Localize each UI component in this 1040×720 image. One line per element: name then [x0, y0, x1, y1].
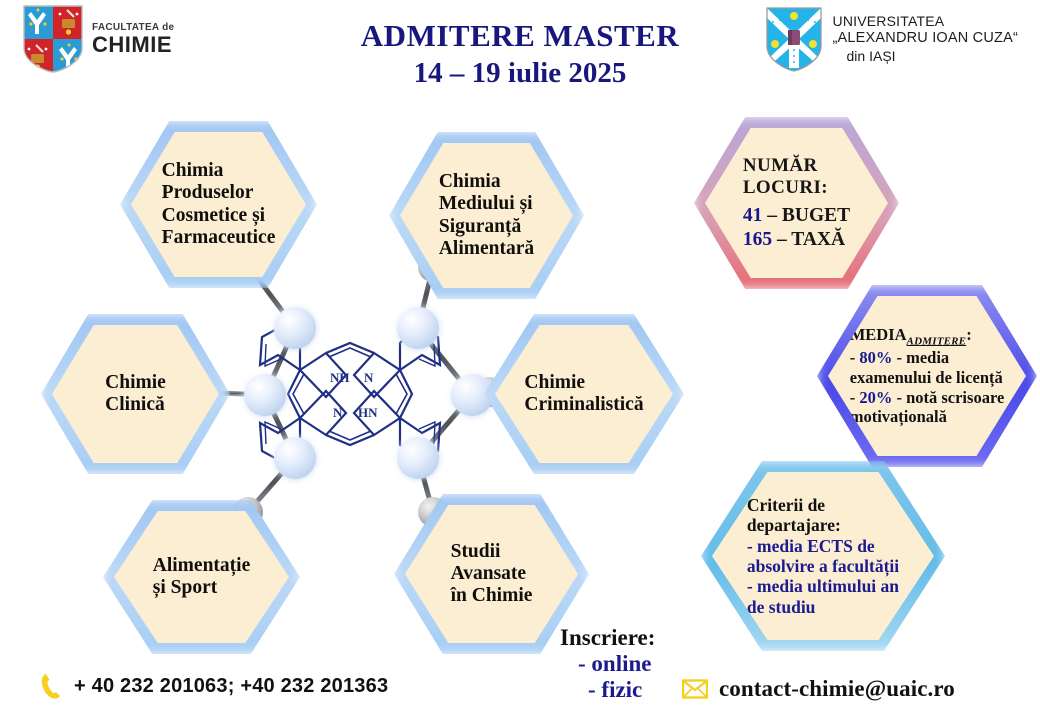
university-logo-text: UNIVERSITATEA „ALEXANDRU IOAN CUZA“ din … [833, 13, 1018, 65]
svg-text:N: N [333, 405, 343, 420]
program-label: ChimiaMediului șiSiguranțăAlimentară [433, 171, 540, 259]
university-logo: UNIVERSITATEA „ALEXANDRU IOAN CUZA“ din … [765, 6, 1018, 72]
criterii-line-2: absolvire a facultății [747, 556, 899, 576]
info-hex-numar-locuri[interactable]: NUMĂR LOCURI: 41 – BUGET 165 – TAXĂ [705, 128, 888, 278]
criterii-content: Criterii de departajare: - media ECTS de… [745, 495, 901, 617]
media-20-value: 20% [859, 388, 892, 407]
media-line3-prefix: - [850, 388, 860, 407]
program-hex-studii-avansate-in-chimie[interactable]: StudiiAvansateîn Chimie [405, 505, 578, 643]
program-hex-chimie-criminalistica[interactable]: ChimieCriminalistică [495, 325, 673, 463]
media-title-colon: : [966, 325, 972, 344]
media-content: MEDIAADMITERE: - 80% - media examenului … [848, 325, 1007, 427]
svg-text:N: N [364, 370, 374, 385]
numar-locuri-buget: 41 – BUGET [743, 204, 850, 227]
svg-text:HN: HN [358, 405, 378, 420]
chemistry-faculty-crest-icon [22, 4, 84, 74]
inscriere-title: Inscriere: [560, 625, 655, 651]
program-hex-chimie-clinica[interactable]: ChimieClinică [52, 325, 219, 463]
media-80-value: 80% [859, 348, 892, 367]
program-label: ChimiaProduselorCosmetice șiFarmaceutice [156, 160, 282, 248]
media-title-main: MEDIA [850, 325, 907, 344]
media-line3-suffix: - notă scrisoare [892, 388, 1004, 407]
numar-locuri-taxa: 165 – TAXĂ [743, 228, 850, 251]
media-title: MEDIAADMITERE: [850, 325, 1005, 348]
program-label: StudiiAvansateîn Chimie [445, 541, 539, 607]
university-logo-line1: UNIVERSITATEA [833, 13, 1018, 30]
numar-locuri-content: NUMĂR LOCURI: 41 – BUGET 165 – TAXĂ [737, 155, 856, 252]
numar-locuri-title-1: NUMĂR [743, 155, 850, 177]
inscriere-option-fizic: - fizic [560, 677, 655, 703]
inscriere-block: Inscriere: - online - fizic [560, 625, 655, 702]
info-hex-criterii-departajare[interactable]: Criterii de departajare: - media ECTS de… [712, 472, 934, 640]
numar-locuri-title-2: LOCURI: [743, 177, 850, 199]
contact-email[interactable]: contact-chimie@uaic.ro [682, 676, 955, 702]
program-hex-alimentatie-si-sport[interactable]: Alimentațieși Sport [114, 511, 289, 643]
university-logo-line3: din IAȘI [833, 48, 1018, 65]
buget-value: 41 [743, 205, 763, 226]
faculty-logo-text: FACULTATEA de CHIMIE [92, 23, 174, 56]
molecule-inner-nodes [244, 307, 493, 479]
criterii-line-4: de studiu [747, 597, 899, 617]
criterii-line-1: - media ECTS de [747, 536, 899, 556]
uaic-crest-icon [765, 6, 823, 72]
envelope-icon [682, 679, 708, 699]
media-line-4: motivațională [850, 407, 1005, 427]
info-hex-media-admitere[interactable]: MEDIAADMITERE: - 80% - media examenului … [828, 296, 1026, 456]
inscriere-option-online: - online [560, 651, 655, 677]
taxa-value: 165 [743, 229, 772, 250]
program-label: ChimieClinică [99, 372, 172, 416]
poster-canvas: FACULTATEA de CHIMIE ADMITERE MASTER 14 … [0, 0, 1040, 720]
university-logo-line2: „ALEXANDRU IOAN CUZA“ [833, 30, 1018, 48]
faculty-logo: FACULTATEA de CHIMIE [22, 4, 174, 74]
phone-number: + 40 232 201063; +40 232 201363 [74, 675, 388, 698]
media-line1-prefix: - [850, 348, 860, 367]
program-label: ChimieCriminalistică [518, 372, 649, 416]
email-address: contact-chimie@uaic.ro [719, 676, 955, 702]
media-line1-suffix: - media [892, 348, 949, 367]
molecule-bonds [198, 265, 489, 512]
criterii-line-3: - media ultimului an [747, 576, 899, 596]
program-label: Alimentațieși Sport [147, 555, 256, 599]
contact-phone[interactable]: + 40 232 201063; +40 232 201363 [40, 672, 388, 700]
program-hex-chimia-produselor-cosmetice-si-farmaceutice[interactable]: ChimiaProduselorCosmetice șiFarmaceutice [131, 132, 306, 277]
faculty-logo-line1: FACULTATEA de [92, 23, 174, 33]
criterii-title-1: Criterii de [747, 495, 899, 515]
media-line-2: examenului de licență [850, 368, 1005, 388]
media-line-1: - 80% - media [850, 348, 1005, 368]
criterii-title-2: departajare: [747, 515, 899, 535]
phone-icon [40, 672, 62, 700]
svg-text:NH: NH [330, 370, 350, 385]
media-line-3: - 20% - notă scrisoare [850, 388, 1005, 408]
faculty-logo-line2: CHIMIE [92, 34, 174, 56]
taxa-label: – TAXĂ [777, 229, 845, 250]
program-hex-chimia-mediului-si-siguranta-alimentara[interactable]: ChimiaMediului șiSiguranțăAlimentară [400, 143, 573, 288]
buget-label: – BUGET [767, 205, 850, 226]
media-title-sub: ADMITERE [907, 335, 967, 347]
